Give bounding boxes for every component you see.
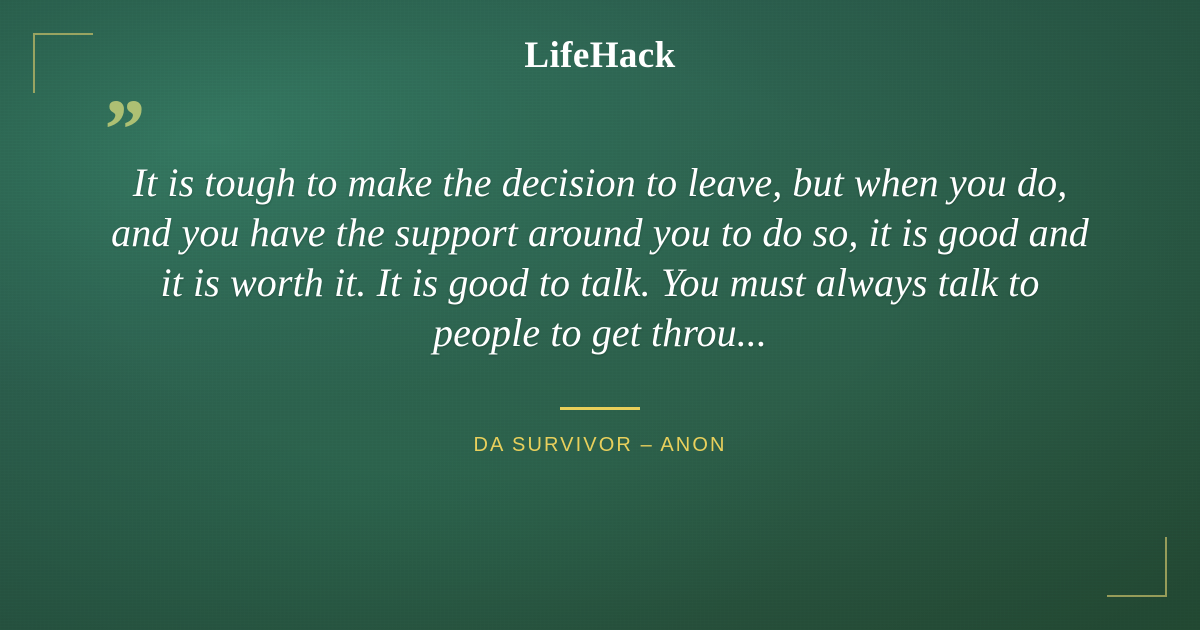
- attribution-divider: [560, 407, 640, 410]
- quote-text: It is tough to make the decision to leav…: [70, 92, 1130, 358]
- quote-line: and you have the support around you to d…: [111, 210, 1089, 255]
- quote-attribution: DA SURVIVOR – ANON: [473, 434, 726, 457]
- card-content: LifeHack ” It is tough to make the decis…: [0, 0, 1200, 630]
- lifehack-logo[interactable]: LifeHack: [524, 37, 675, 74]
- quote-line: people to get throu...: [433, 310, 767, 355]
- quote-line: It is tough to make the decision to leav…: [133, 160, 1068, 205]
- quote-block: ” It is tough to make the decision to le…: [70, 92, 1130, 358]
- quote-card: LifeHack ” It is tough to make the decis…: [0, 0, 1200, 630]
- quotation-mark-icon: ”: [100, 86, 143, 172]
- quote-line: it is worth it. It is good to talk. You …: [161, 260, 1040, 305]
